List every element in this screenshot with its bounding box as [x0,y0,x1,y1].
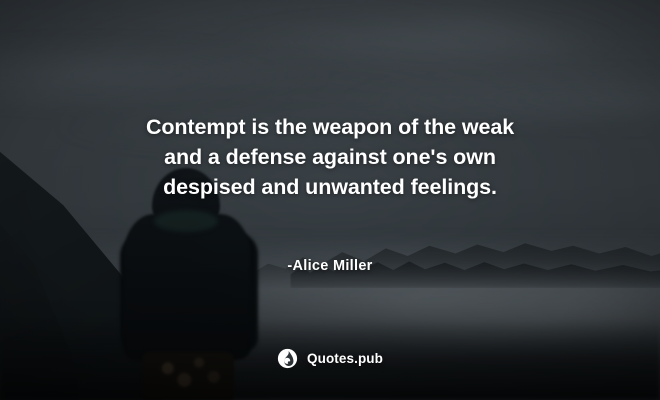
brand-name: Quotes.pub [307,351,383,366]
flame-droplet-circle-icon [277,348,298,369]
quote-overlay: Contempt is the weapon of the weak and a… [0,0,660,400]
quote-card: Contempt is the weapon of the weak and a… [0,0,660,400]
quote-author: -Alice Miller [287,258,372,274]
quote-text: Contempt is the weapon of the weak and a… [95,112,565,202]
brand-lockup: Quotes.pub [0,348,660,369]
